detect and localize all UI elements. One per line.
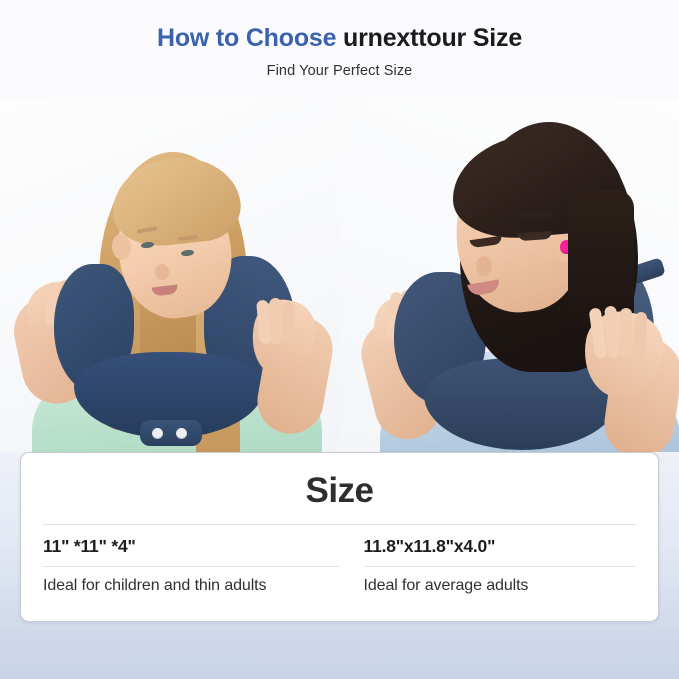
size-column-adult: 11.8"x11.8"x4.0" Ideal for average adult… — [340, 525, 637, 595]
adult-right-finger-4 — [632, 312, 647, 357]
page-header: How to Choose urnexttour Size Find Your … — [0, 0, 679, 79]
size-table: 11" *11" *4" Ideal for children and thin… — [43, 525, 636, 595]
size-description-child: Ideal for children and thin adults — [43, 567, 340, 595]
adult-nose — [476, 256, 492, 276]
product-photo-strip — [0, 100, 679, 452]
page-subtitle: Find Your Perfect Size — [0, 63, 679, 79]
size-column-child: 11" *11" *4" Ideal for children and thin… — [43, 525, 340, 595]
size-description-adult: Ideal for average adults — [364, 567, 637, 595]
size-value-child: 11" *11" *4" — [43, 525, 340, 566]
child-pillow-snap-1 — [152, 428, 163, 439]
page-title-highlight: How to Choose — [157, 24, 336, 52]
child-right-finger-3 — [281, 302, 294, 344]
photo-adult-wearing-travel-pillow — [340, 100, 679, 452]
size-card: Size 11" *11" *4" Ideal for children and… — [20, 452, 659, 622]
child-pillow-snap-2 — [176, 428, 187, 439]
page-title-rest: urnexttour Size — [336, 24, 522, 52]
size-value-adult: 11.8"x11.8"x4.0" — [364, 525, 637, 566]
size-card-heading: Size — [43, 453, 636, 508]
adult-right-finger-3 — [620, 308, 632, 358]
child-pillow-strap — [140, 420, 202, 446]
page-title: How to Choose urnexttour Size — [0, 24, 679, 53]
photo-child-wearing-travel-pillow — [0, 100, 340, 452]
child-nose — [155, 264, 169, 280]
